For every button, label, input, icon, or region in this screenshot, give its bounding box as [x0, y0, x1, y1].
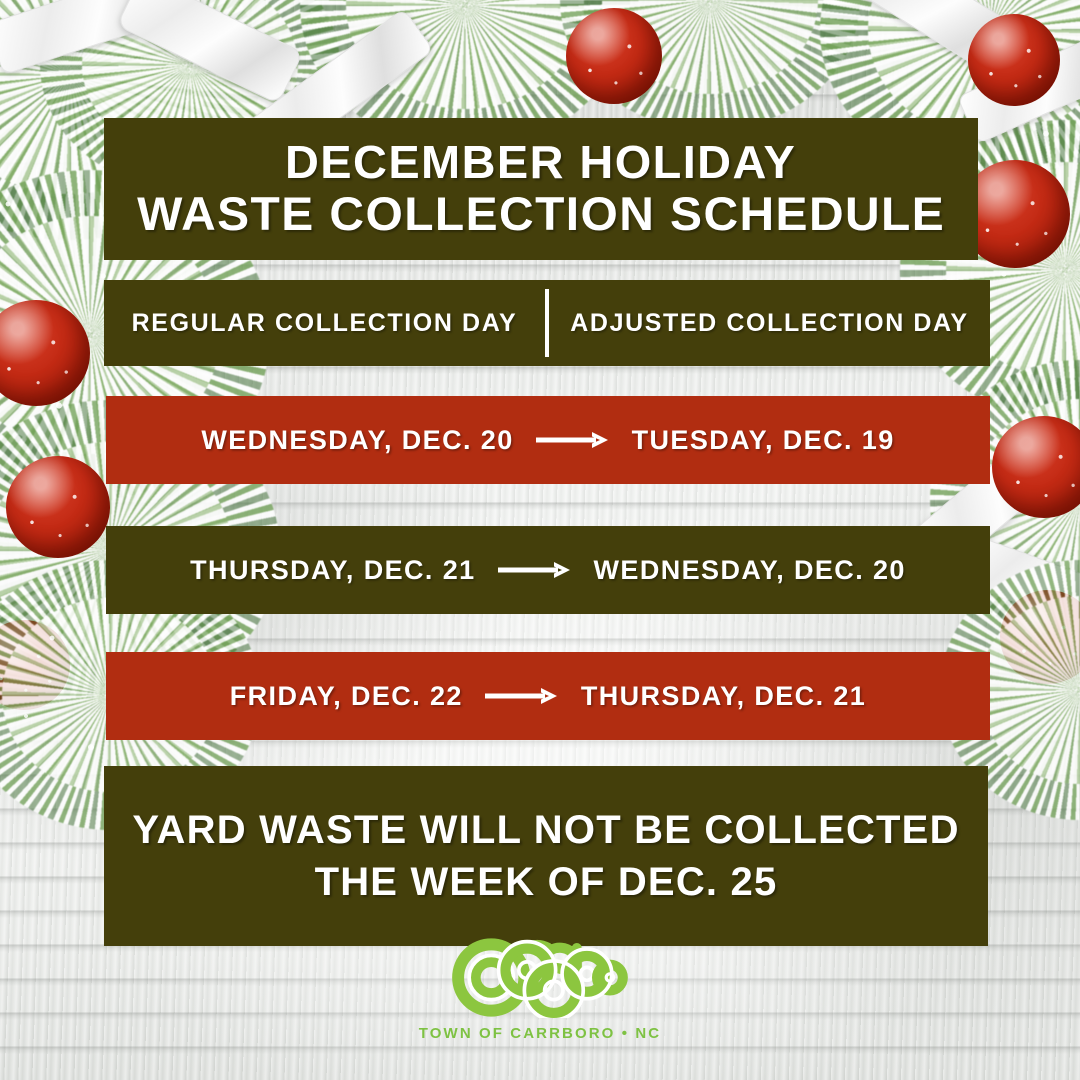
arrow-right-icon	[485, 685, 559, 707]
town-logo: TOWN OF CARRBORO • NC	[0, 926, 1080, 1042]
column-header-regular: REGULAR COLLECTION DAY	[104, 309, 545, 338]
yard-waste-notice: YARD WASTE WILL NOT BE COLLECTED THE WEE…	[104, 766, 988, 946]
table-row: FRIDAY, DEC. 22 THURSDAY, DEC. 21	[106, 652, 990, 740]
schedule-table-header: REGULAR COLLECTION DAY ADJUSTED COLLECTI…	[104, 280, 990, 366]
notice-line-2: THE WEEK OF DEC. 25	[315, 860, 778, 904]
logo-tagline: TOWN OF CARRBORO • NC	[419, 1025, 661, 1042]
row-regular-day: FRIDAY, DEC. 22	[230, 681, 463, 712]
notice-line-1: YARD WASTE WILL NOT BE COLLECTED	[132, 808, 959, 852]
row-regular-day: WEDNESDAY, DEC. 20	[201, 425, 513, 456]
row-adjusted-day: WEDNESDAY, DEC. 20	[594, 555, 906, 586]
page-title-line-1: DECEMBER HOLIDAY	[285, 138, 796, 188]
row-adjusted-day: TUESDAY, DEC. 19	[632, 425, 895, 456]
table-row: THURSDAY, DEC. 21 WEDNESDAY, DEC. 20	[106, 526, 990, 614]
arrow-right-icon	[498, 559, 572, 581]
page-title-bar: DECEMBER HOLIDAY WASTE COLLECTION SCHEDU…	[104, 118, 978, 260]
row-adjusted-day: THURSDAY, DEC. 21	[581, 681, 866, 712]
carrboro-wordmark-icon	[445, 926, 635, 1018]
table-row: WEDNESDAY, DEC. 20 TUESDAY, DEC. 19	[106, 396, 990, 484]
row-regular-day: THURSDAY, DEC. 21	[190, 555, 475, 586]
arrow-right-icon	[536, 429, 610, 451]
page-title-line-2: WASTE COLLECTION SCHEDULE	[137, 189, 945, 240]
column-header-adjusted: ADJUSTED COLLECTION DAY	[549, 309, 990, 338]
